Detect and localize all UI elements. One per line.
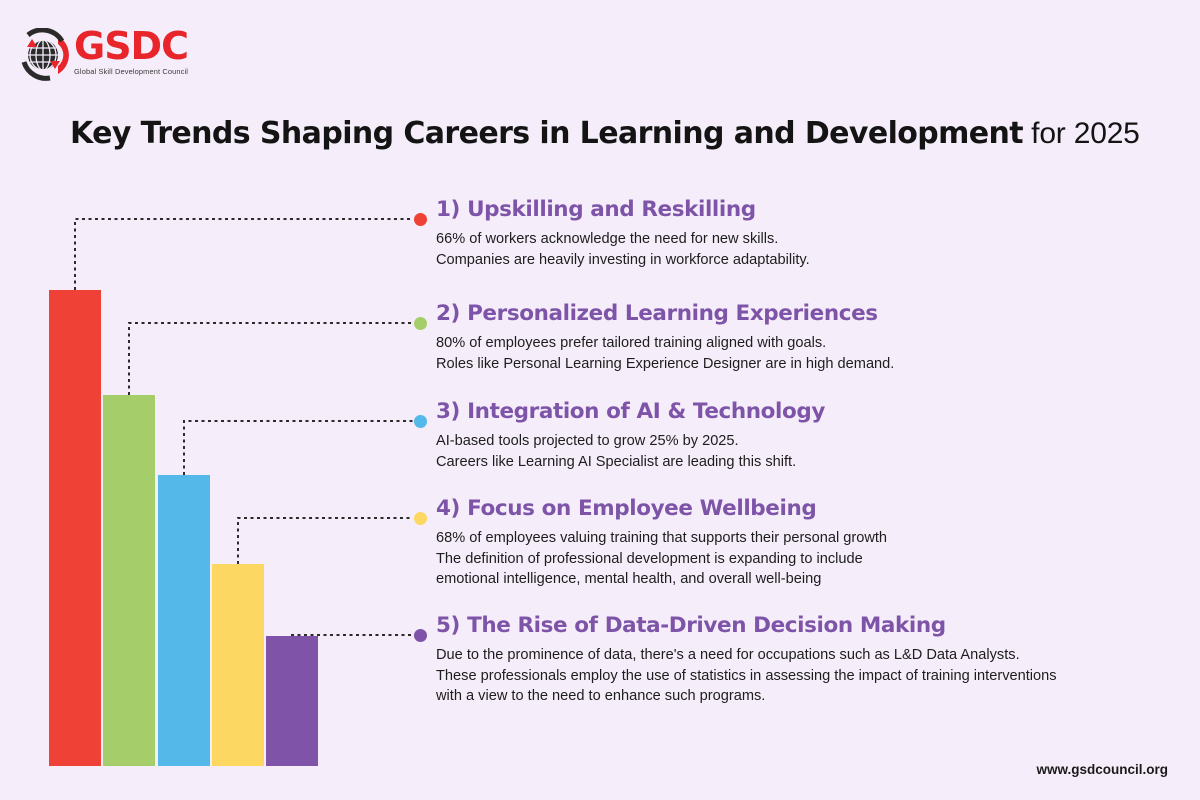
page-title-bold: Key Trends Shaping Careers in Learning a… — [70, 116, 1023, 151]
trend-description-3: AI-based tools projected to grow 25% by … — [436, 431, 796, 472]
trend-description-line: Due to the prominence of data, there's a… — [436, 645, 1057, 666]
trend-description-2: 80% of employees prefer tailored trainin… — [436, 333, 894, 374]
trend-description-line: Careers like Learning AI Specialist are … — [436, 452, 796, 473]
bar-2 — [103, 395, 155, 766]
trend-description-line: 80% of employees prefer tailored trainin… — [436, 333, 894, 354]
page-title-light: for 2025 — [1023, 117, 1140, 150]
bar-1 — [49, 290, 101, 766]
trend-heading-3: 3) Integration of AI & Technology — [436, 399, 825, 424]
trend-description-line: The definition of professional developme… — [436, 549, 887, 570]
trend-description-4: 68% of employees valuing training that s… — [436, 528, 887, 590]
bar-5 — [266, 636, 318, 766]
trend-description-line: Companies are heavily investing in workf… — [436, 250, 810, 271]
brand-wordmark: GSDC Global Skill Development Council — [74, 26, 214, 76]
trend-heading-5: 5) The Rise of Data-Driven Decision Maki… — [436, 613, 946, 638]
trend-bullet-dot-2 — [414, 317, 427, 330]
footer-website-url[interactable]: www.gsdcouncil.org — [1036, 762, 1168, 777]
connector-line-1 — [75, 219, 413, 290]
brand-logo: GSDC Global Skill Development Council — [18, 26, 218, 86]
trend-bullet-dot-5 — [414, 629, 427, 642]
brand-name: GSDC — [74, 26, 214, 66]
bar-3 — [158, 475, 210, 766]
trend-description-line: These professionals employ the use of st… — [436, 666, 1057, 687]
trend-description-line: Roles like Personal Learning Experience … — [436, 354, 894, 375]
globe-orbit-icon — [18, 28, 72, 82]
connector-line-2 — [129, 323, 413, 395]
trend-bullet-dot-4 — [414, 512, 427, 525]
trend-description-1: 66% of workers acknowledge the need for … — [436, 229, 810, 270]
connector-line-4 — [238, 518, 413, 564]
connector-line-3 — [184, 421, 413, 475]
trend-heading-4: 4) Focus on Employee Wellbeing — [436, 496, 816, 521]
trend-description-5: Due to the prominence of data, there's a… — [436, 645, 1057, 707]
page-title: Key Trends Shaping Careers in Learning a… — [70, 116, 1140, 151]
trend-heading-1: 1) Upskilling and Reskilling — [436, 197, 756, 222]
trend-description-line: AI-based tools projected to grow 25% by … — [436, 431, 796, 452]
trend-description-line: 66% of workers acknowledge the need for … — [436, 229, 810, 250]
trend-bullet-dot-1 — [414, 213, 427, 226]
trend-bullet-dot-3 — [414, 415, 427, 428]
trend-description-line: 68% of employees valuing training that s… — [436, 528, 887, 549]
brand-tagline: Global Skill Development Council — [74, 67, 214, 76]
trend-heading-2: 2) Personalized Learning Experiences — [436, 301, 878, 326]
bar-4 — [212, 564, 264, 766]
trend-description-line: emotional intelligence, mental health, a… — [436, 569, 887, 590]
trend-description-line: with a view to the need to enhance such … — [436, 686, 1057, 707]
